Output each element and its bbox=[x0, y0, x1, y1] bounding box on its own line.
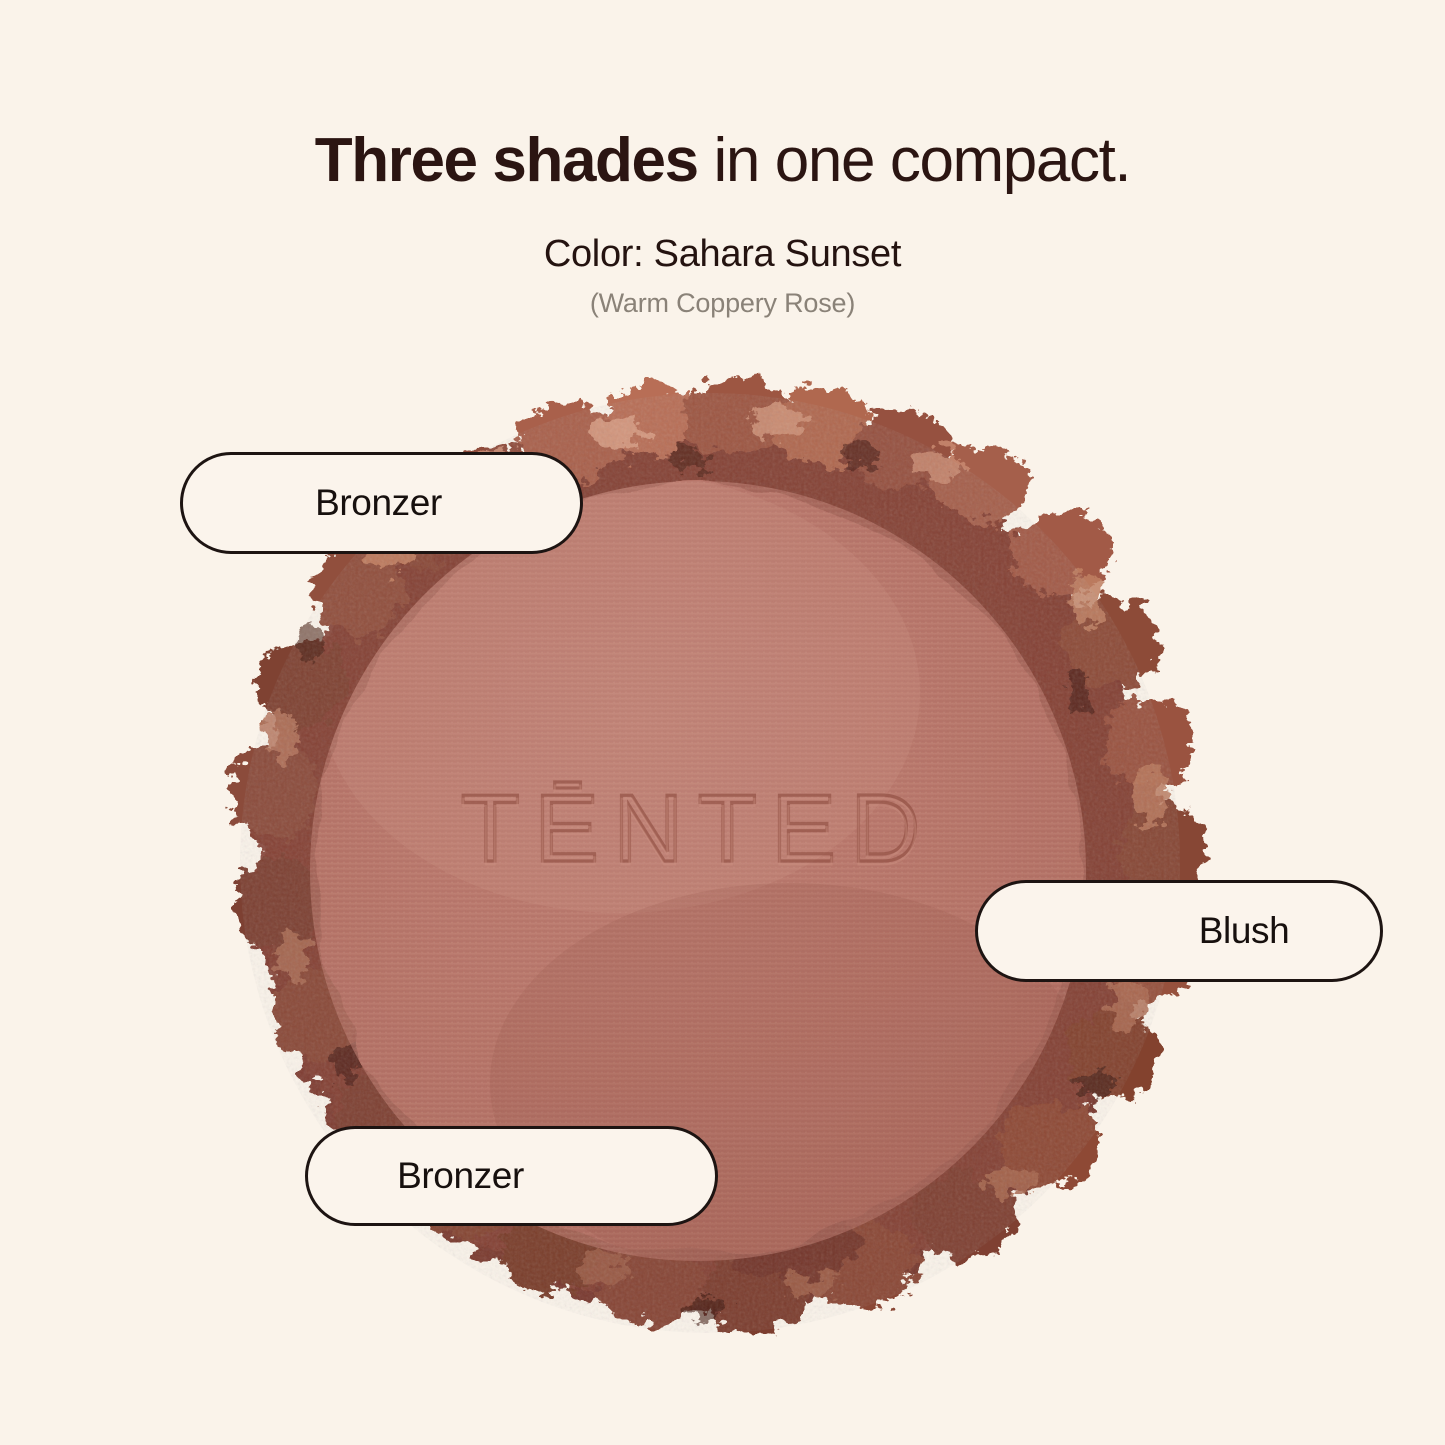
color-description: (Warm Coppery Rose) bbox=[0, 288, 1445, 319]
callout-label-bronzer-top: Bronzer bbox=[183, 482, 580, 524]
product-image-canvas: Three shades in one compact. Color: Saha… bbox=[0, 0, 1445, 1445]
callout-label-blush: Blush bbox=[978, 910, 1380, 952]
brand-emboss-logo: TĒNTED TĒNTED bbox=[461, 775, 935, 886]
callout-label-bronzer-bottom: Bronzer bbox=[308, 1155, 715, 1197]
headline-rest: in one compact. bbox=[698, 126, 1131, 195]
callout-bronzer-bottom[interactable]: Bronzer bbox=[305, 1126, 718, 1226]
headline-emphasis: Three shades bbox=[315, 126, 698, 195]
callout-bronzer-top[interactable]: Bronzer bbox=[180, 452, 583, 554]
callout-blush[interactable]: Blush bbox=[975, 880, 1383, 982]
svg-text:TĒNTED: TĒNTED bbox=[461, 779, 935, 886]
color-name-line: Color: Sahara Sunset bbox=[0, 233, 1445, 276]
page-title: Three shades in one compact. bbox=[0, 128, 1445, 193]
